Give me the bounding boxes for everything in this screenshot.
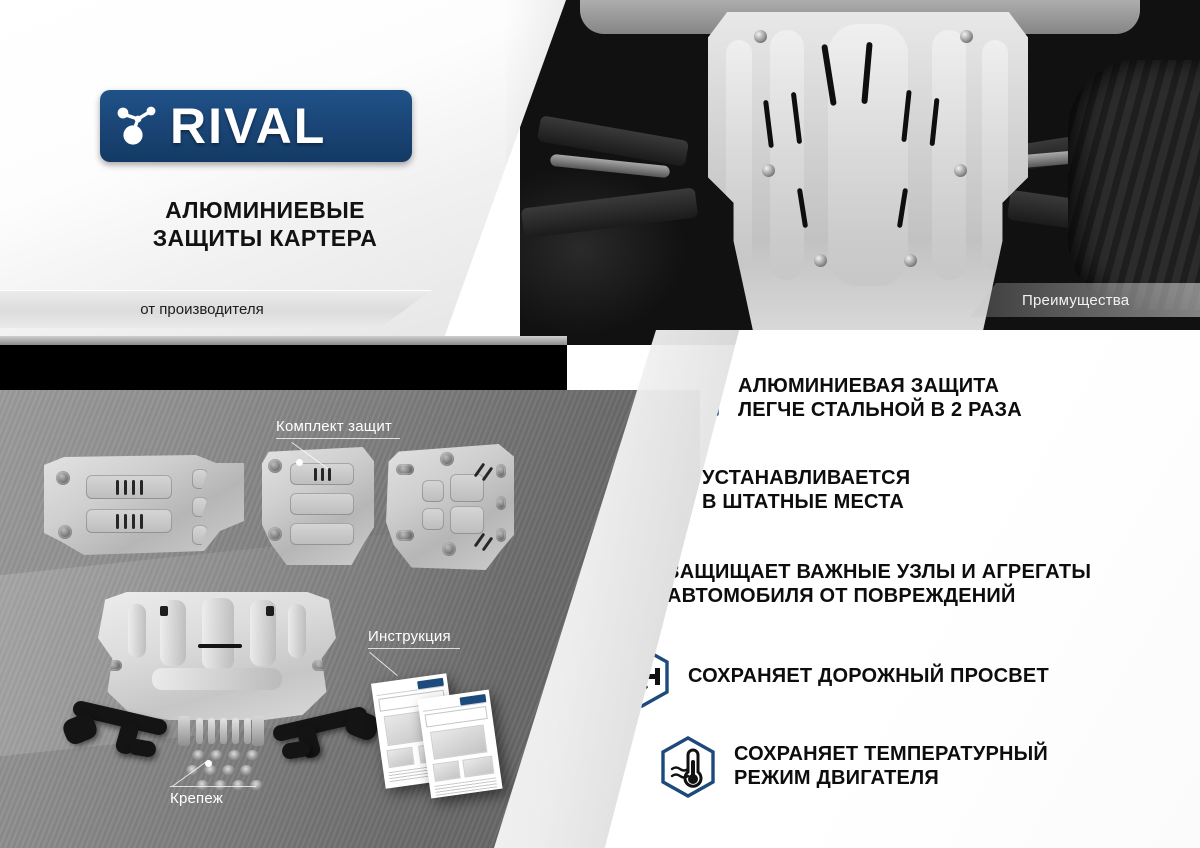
callout-fasteners-label: Крепеж: [170, 790, 223, 807]
callout-kit-dot: [296, 459, 303, 466]
instruction-sheet-front: [417, 689, 502, 798]
divider-band: [0, 345, 567, 390]
callout-kit: Комплект защит: [276, 418, 406, 439]
photo-suspension-arm: [521, 187, 698, 238]
sub-banner: от производителя: [0, 290, 432, 328]
advantage-text: АЛЮМИНИЕВАЯ ЗАЩИТА ЛЕГЧЕ СТАЛЬНОЙ В 2 РА…: [738, 375, 1022, 422]
advantage-text: ЗАЩИЩАЕТ ВАЖНЫЕ УЗЛЫ И АГРЕГАТЫ АВТОМОБИ…: [667, 561, 1091, 608]
molecule-icon: [114, 103, 160, 149]
skid-plate-center: [262, 447, 374, 565]
advantage-text: СОХРАНЯЕТ ТЕМПЕРАТУРНЫЙ РЕЖИМ ДВИГАТЕЛЯ: [734, 743, 1048, 790]
washer: [246, 750, 259, 761]
bolt: [244, 718, 251, 744]
callout-instruction: Инструкция: [368, 628, 464, 649]
advantage-text: СОХРАНЯЕТ ДОРОЖНЫЙ ПРОСВЕТ: [688, 665, 1049, 689]
callout-fasteners: Крепеж: [170, 786, 260, 807]
callout-fasteners-dot: [205, 760, 212, 767]
page-title-line1: АЛЮМИНИЕВЫЕ: [100, 196, 430, 224]
sub-banner-label: от производителя: [140, 301, 291, 318]
tab-advantages[interactable]: Преимущества: [970, 283, 1200, 317]
spacer: [252, 716, 264, 746]
brand-name: RIVAL: [170, 101, 326, 151]
page-title-line2: ЗАЩИТЫ КАРТЕРА: [100, 224, 430, 252]
tab-advantages-label: Преимущества: [1022, 292, 1129, 309]
thermometer-icon: [660, 736, 716, 798]
callout-instruction-label: Инструкция: [368, 628, 451, 645]
underbody-photo: Преимущества: [520, 0, 1200, 345]
spacer: [178, 716, 190, 746]
photo-tire: [1068, 60, 1200, 310]
bolt: [220, 718, 227, 744]
skid-plate-main: [98, 592, 336, 720]
washer: [228, 750, 241, 761]
advantage-text: УСТАНАВЛИВАЕТСЯ В ШТАТНЫЕ МЕСТА: [702, 467, 910, 514]
skid-plate-right: [386, 444, 514, 570]
bolt: [232, 718, 239, 744]
washer: [240, 765, 253, 776]
photo-skid-plate: [708, 12, 1028, 330]
brand-logo: RIVAL: [100, 90, 412, 162]
poster-root: Преимущества RIVAL АЛЮМИНИЕВЫЕ ЗАЩИТЫ КА…: [0, 0, 1200, 848]
page-title: АЛЮМИНИЕВЫЕ ЗАЩИТЫ КАРТЕРА: [100, 196, 430, 252]
advantage-item-temperature[interactable]: СОХРАНЯЕТ ТЕМПЕРАТУРНЫЙ РЕЖИМ ДВИГАТЕЛЯ: [660, 736, 1048, 798]
callout-kit-label: Комплект защит: [276, 418, 392, 435]
bolt: [208, 718, 215, 744]
washer: [192, 750, 205, 761]
bolt: [196, 718, 203, 744]
washer: [210, 750, 223, 761]
advantage-item-clearance[interactable]: СОХРАНЯЕТ ДОРОЖНЫЙ ПРОСВЕТ: [614, 646, 1049, 708]
washer: [204, 765, 217, 776]
washer: [222, 765, 235, 776]
